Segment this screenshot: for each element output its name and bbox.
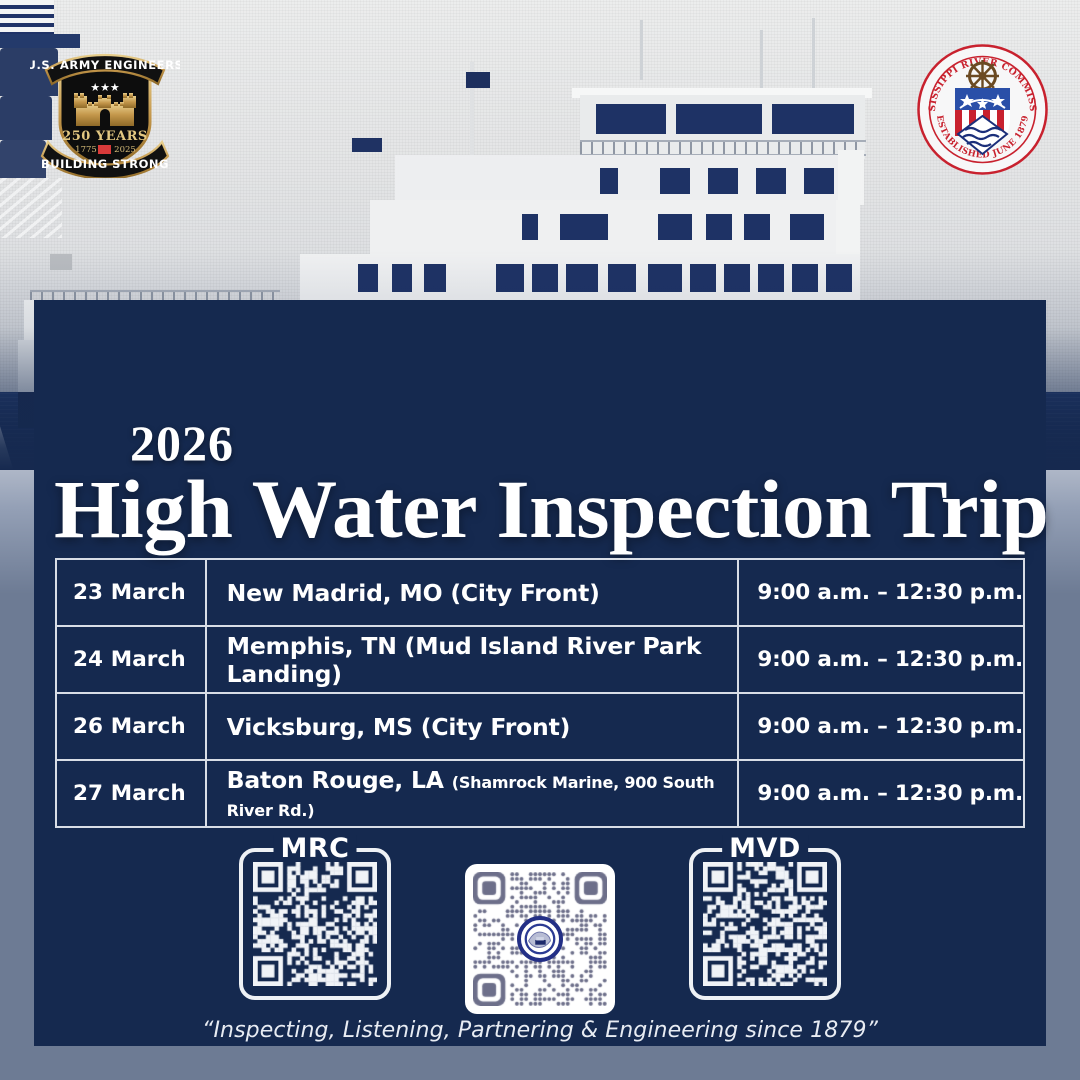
qr-outline-mvd[interactable]: MVD: [689, 848, 841, 1000]
tagline: “Inspecting, Listening, Partnering & Eng…: [0, 1018, 1080, 1043]
usace-years-text: 250 YEARS: [62, 129, 148, 144]
ships-wheel-icon: [966, 60, 999, 92]
mrc-seal-logo: MISSISSIPPI RIVER COMMISSION ESTABLISHED…: [915, 42, 1050, 177]
qr-label-mrc: MRC: [274, 835, 357, 862]
cell-location: New Madrid, MO (City Front): [206, 559, 739, 626]
cell-location-main: Baton Rouge, LA: [227, 766, 444, 794]
cell-time: 9:00 a.m. – 12:30 p.m.: [738, 760, 1024, 827]
headline-block: 2026 High Water Inspection Trip: [54, 418, 1034, 549]
qr-block-mvd[interactable]: MVD: [689, 848, 841, 1000]
cell-date: 27 March: [56, 760, 206, 827]
table-row: 26 March Vicksburg, MS (City Front) 9:00…: [56, 693, 1024, 760]
qr-center-emblem-icon: [517, 916, 563, 962]
cell-location: Vicksburg, MS (City Front): [206, 693, 739, 760]
usace-top-banner-text: U.S. ARMY ENGINEERS: [30, 58, 180, 72]
cell-time: 9:00 a.m. – 12:30 p.m.: [738, 693, 1024, 760]
cell-location: Baton Rouge, LA (Shamrock Marine, 900 So…: [206, 760, 739, 827]
table-row: 23 March New Madrid, MO (City Front) 9:0…: [56, 559, 1024, 626]
table-row: 27 March Baton Rouge, LA (Shamrock Marin…: [56, 760, 1024, 827]
qr-code-row: MRC MVD: [0, 848, 1080, 1014]
cell-date: 24 March: [56, 626, 206, 693]
cell-date: 23 March: [56, 559, 206, 626]
table-row: 24 March Memphis, TN (Mud Island River P…: [56, 626, 1024, 693]
usace-logo-svg: U.S. ARMY ENGINEERS ★★★ 250 YEARS 1775 2…: [30, 38, 180, 178]
poster-year: 2026: [130, 418, 1034, 468]
usace-stars: ★★★: [90, 82, 120, 94]
cell-date: 26 March: [56, 693, 206, 760]
usace-date-left: 1775: [75, 145, 97, 155]
qr-code-mrc[interactable]: [253, 862, 377, 986]
cell-location: Memphis, TN (Mud Island River Park Landi…: [206, 626, 739, 693]
usace-date-right: 2025: [114, 145, 136, 155]
cell-time: 9:00 a.m. – 12:30 p.m.: [738, 559, 1024, 626]
american-flag-icon: [0, 0, 54, 34]
qr-block-mrc[interactable]: MRC: [239, 848, 391, 1000]
cell-location-main: Vicksburg, MS (City Front): [227, 713, 571, 741]
usace-bottom-banner-text: BUILDING STRONG: [41, 157, 169, 171]
cell-location-main: Memphis, TN (Mud Island River Park Landi…: [227, 632, 702, 688]
qr-label-mvd: MVD: [722, 835, 808, 862]
mrc-logo-svg: MISSISSIPPI RIVER COMMISSION ESTABLISHED…: [915, 42, 1050, 177]
poster: U.S. ARMY ENGINEERS ★★★ 250 YEARS 1775 2…: [0, 0, 1080, 1080]
cell-time: 9:00 a.m. – 12:30 p.m.: [738, 626, 1024, 693]
page-title: High Water Inspection Trip: [54, 470, 1063, 549]
schedule-table: 23 March New Madrid, MO (City Front) 9:0…: [55, 558, 1025, 828]
cell-location-main: New Madrid, MO (City Front): [227, 579, 600, 607]
usace-castle-logo: U.S. ARMY ENGINEERS ★★★ 250 YEARS 1775 2…: [30, 38, 180, 178]
qr-code-mvd[interactable]: [703, 862, 827, 986]
qr-block-center[interactable]: [465, 864, 615, 1014]
qr-outline-mrc[interactable]: MRC: [239, 848, 391, 1000]
qr-white-center[interactable]: [465, 864, 615, 1014]
schedule-table-body: 23 March New Madrid, MO (City Front) 9:0…: [56, 559, 1024, 827]
